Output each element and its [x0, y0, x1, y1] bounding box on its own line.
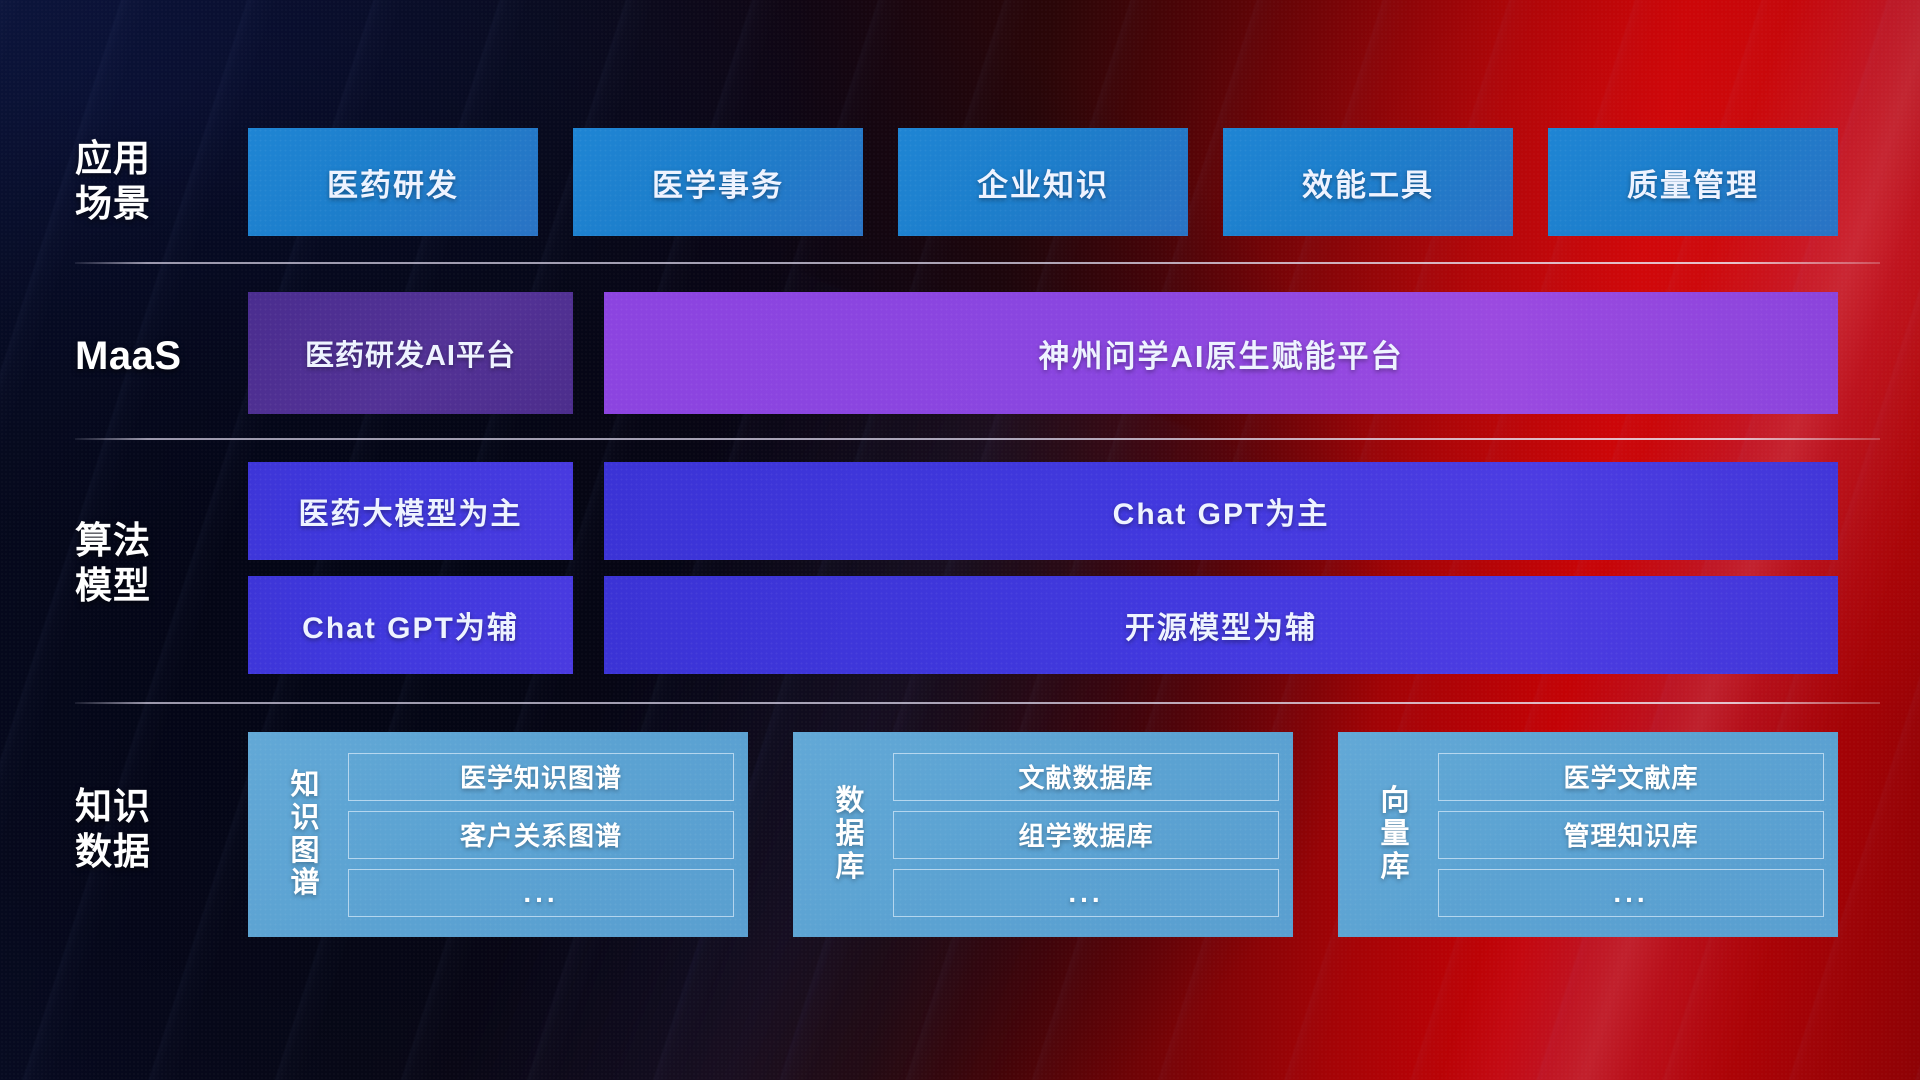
- knowledge-item-more[interactable]: ...: [1438, 869, 1824, 917]
- app-scenario-label-5: 质量管理: [1627, 160, 1759, 205]
- app-scenario-box-1[interactable]: 医药研发: [248, 128, 538, 236]
- row-label-knowledge-data: 知识 数据: [75, 784, 235, 874]
- knowledge-item-more[interactable]: ...: [348, 869, 734, 917]
- knowledge-panel-knowledge-graph[interactable]: 知识图谱 医学知识图谱 客户关系图谱 ...: [248, 732, 748, 937]
- knowledge-item[interactable]: 医学文献库: [1438, 753, 1824, 801]
- knowledge-item-more[interactable]: ...: [893, 869, 1279, 917]
- app-scenario-box-5[interactable]: 质量管理: [1548, 128, 1838, 236]
- algo-model-box-chatgpt-primary[interactable]: Chat GPT为主: [604, 462, 1838, 560]
- app-scenario-label-1: 医药研发: [327, 160, 459, 205]
- row-maas: MaaS 医药研发AI平台 神州问学AI原生赋能平台: [0, 292, 1920, 414]
- algo-model-label-pharma-primary: 医药大模型为主: [299, 489, 523, 533]
- knowledge-panel-items-vector-store: 医学文献库 管理知识库 ...: [1438, 753, 1824, 917]
- app-scenario-box-4[interactable]: 效能工具: [1223, 128, 1513, 236]
- row-algorithm-models: 算法 模型 医药大模型为主 Chat GPT为主 Chat GPT为辅 开源模型…: [0, 462, 1920, 674]
- algo-model-label-chatgpt-secondary: Chat GPT为辅: [302, 603, 519, 647]
- maas-platform-label-pharma: 医药研发AI平台: [305, 332, 516, 374]
- row-application-scenarios: 应用 场景 医药研发 医学事务 企业知识 效能工具 质量管理: [0, 128, 1920, 236]
- divider-3: [75, 702, 1880, 704]
- knowledge-panel-database[interactable]: 数据库 文献数据库 组学数据库 ...: [793, 732, 1293, 937]
- app-scenario-box-2[interactable]: 医学事务: [573, 128, 863, 236]
- knowledge-panel-items-database: 文献数据库 组学数据库 ...: [893, 753, 1279, 917]
- architecture-stack: 应用 场景 医药研发 医学事务 企业知识 效能工具 质量管理 MaaS 医药研发…: [0, 0, 1920, 1080]
- app-scenario-box-3[interactable]: 企业知识: [898, 128, 1188, 236]
- maas-platform-label-shenzhou: 神州问学AI原生赋能平台: [1039, 331, 1404, 376]
- maas-platform-box-shenzhou[interactable]: 神州问学AI原生赋能平台: [604, 292, 1838, 414]
- row-knowledge-data: 知识 数据 知识图谱 医学知识图谱 客户关系图谱 ... 数据库 文献数据库 组…: [0, 732, 1920, 937]
- knowledge-panel-vertical-label-knowledge-graph: 知识图谱: [278, 769, 332, 900]
- divider-2: [75, 438, 1880, 440]
- knowledge-panel-items-knowledge-graph: 医学知识图谱 客户关系图谱 ...: [348, 753, 734, 917]
- algo-model-label-opensource-secondary: 开源模型为辅: [1125, 603, 1317, 647]
- diagram-canvas: 应用 场景 医药研发 医学事务 企业知识 效能工具 质量管理 MaaS 医药研发…: [0, 0, 1920, 1080]
- app-scenario-label-4: 效能工具: [1302, 160, 1434, 205]
- row-label-application-scenarios: 应用 场景: [75, 136, 235, 226]
- knowledge-item[interactable]: 医学知识图谱: [348, 753, 734, 801]
- knowledge-panel-vertical-label-vector-store: 向量库: [1368, 785, 1422, 883]
- algo-model-box-pharma-primary[interactable]: 医药大模型为主: [248, 462, 573, 560]
- app-scenario-label-2: 医学事务: [652, 160, 784, 205]
- knowledge-panel-vector-store[interactable]: 向量库 医学文献库 管理知识库 ...: [1338, 732, 1838, 937]
- row-label-maas: MaaS: [75, 332, 235, 381]
- knowledge-panel-vertical-label-database: 数据库: [823, 785, 877, 883]
- divider-1: [75, 262, 1880, 264]
- row-label-algorithm-models: 算法 模型: [75, 518, 235, 608]
- knowledge-item[interactable]: 文献数据库: [893, 753, 1279, 801]
- algo-model-label-chatgpt-primary: Chat GPT为主: [1113, 489, 1330, 533]
- app-scenario-label-3: 企业知识: [977, 160, 1109, 205]
- algo-model-box-opensource-secondary[interactable]: 开源模型为辅: [604, 576, 1838, 674]
- knowledge-item[interactable]: 客户关系图谱: [348, 811, 734, 859]
- knowledge-item[interactable]: 管理知识库: [1438, 811, 1824, 859]
- knowledge-item[interactable]: 组学数据库: [893, 811, 1279, 859]
- algo-model-box-chatgpt-secondary[interactable]: Chat GPT为辅: [248, 576, 573, 674]
- maas-platform-box-pharma[interactable]: 医药研发AI平台: [248, 292, 573, 414]
